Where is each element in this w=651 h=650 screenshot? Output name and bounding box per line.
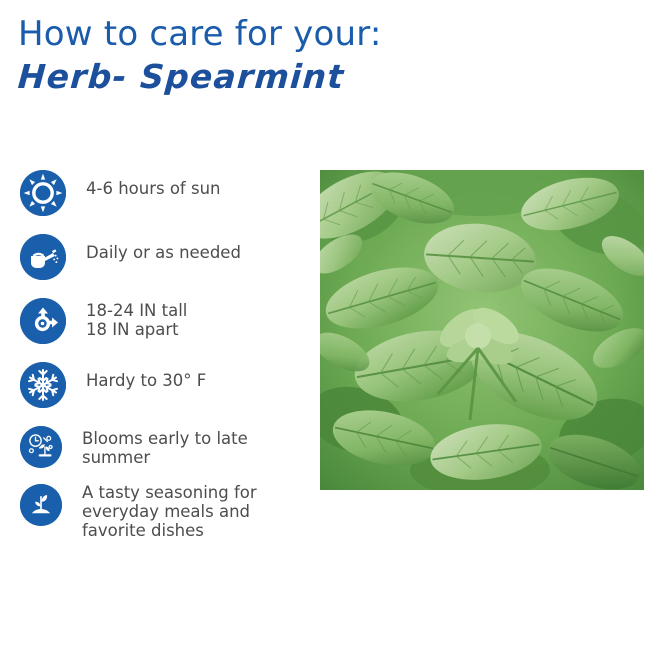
- care-row-spacing: 18-24 IN tall 18 IN apart: [20, 296, 310, 352]
- care-text-hardiness: Hardy to 30° F: [86, 360, 206, 390]
- seedling-icon: [20, 484, 62, 526]
- page-title: How to care for your: Herb- Spearmint: [18, 14, 638, 99]
- title-line-2: Herb- Spearmint: [16, 55, 639, 99]
- sun-icon: [20, 170, 66, 216]
- care-text-spacing: 18-24 IN tall 18 IN apart: [86, 296, 187, 339]
- snowflake-icon: [20, 362, 66, 408]
- care-text-bloom-time: Blooms early to late summer: [82, 424, 248, 467]
- bloom-time-icon: [20, 426, 62, 468]
- care-row-bloom-time: Blooms early to late summer: [20, 424, 310, 480]
- watering-can-icon: [20, 234, 66, 280]
- plant-photo: [320, 170, 644, 490]
- care-row-sun: 4-6 hours of sun: [20, 168, 310, 224]
- plant-care-card: How to care for your: Herb- Spearmint: [0, 0, 651, 650]
- care-instruction-list: 4-6 hours of sun: [20, 168, 310, 548]
- care-row-water: Daily or as needed: [20, 232, 310, 288]
- care-text-water: Daily or as needed: [86, 232, 241, 262]
- care-text-sun: 4-6 hours of sun: [86, 168, 221, 198]
- care-row-hardiness: Hardy to 30° F: [20, 360, 310, 416]
- care-row-use: A tasty seasoning for everyday meals and…: [20, 482, 310, 540]
- care-text-use: A tasty seasoning for everyday meals and…: [82, 482, 257, 540]
- spacing-icon: [20, 298, 66, 344]
- title-line-1: How to care for your:: [18, 14, 638, 55]
